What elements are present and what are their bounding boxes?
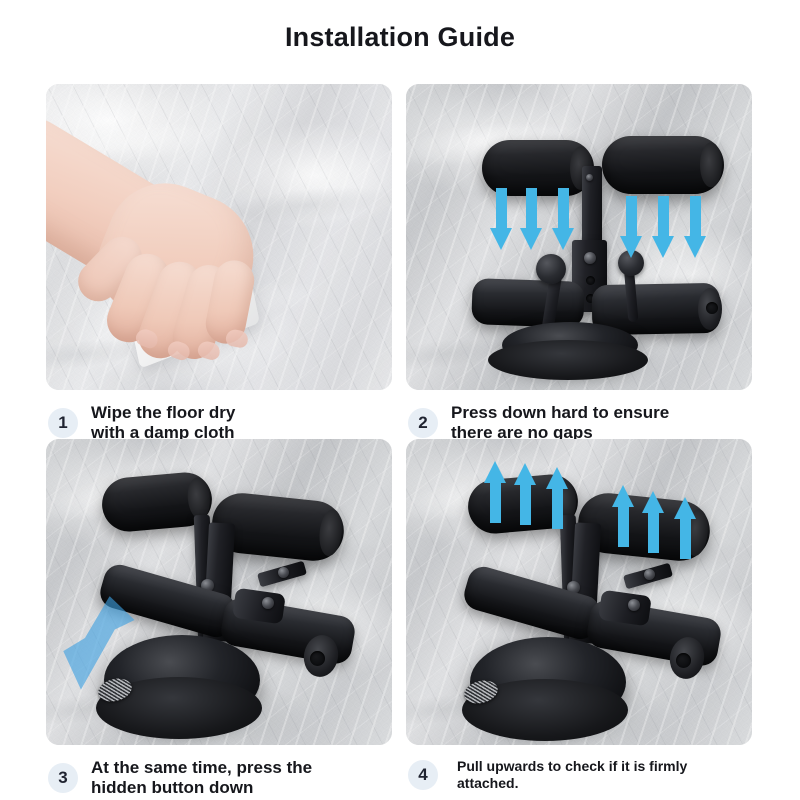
arrow-shaft bbox=[558, 188, 569, 228]
press-down-arrow bbox=[520, 188, 542, 250]
support-arm-bolt bbox=[644, 569, 655, 580]
steps-grid: 1 Wipe the floor dry with a damp cloth bbox=[46, 84, 754, 784]
roller-end-cap bbox=[186, 476, 212, 520]
arrow-head bbox=[514, 463, 536, 485]
arrow-head bbox=[490, 228, 512, 250]
pull-up-arrow bbox=[674, 497, 696, 559]
arrow-shaft bbox=[520, 485, 531, 525]
foot-bar-left bbox=[471, 278, 585, 328]
pull-up-arrow bbox=[514, 463, 536, 525]
step-3-caption: 3 At the same time, press the hidden but… bbox=[46, 758, 392, 798]
situp-bar-angled-view bbox=[406, 439, 752, 745]
press-down-arrow bbox=[490, 188, 512, 250]
arrow-shaft bbox=[680, 519, 691, 559]
height-adjust-hole bbox=[586, 276, 595, 285]
arrow-shaft bbox=[690, 196, 701, 236]
arrow-head bbox=[520, 228, 542, 250]
press-down-arrow bbox=[684, 196, 706, 258]
situp-bar-front-view bbox=[406, 84, 752, 390]
roller-bolt bbox=[586, 174, 593, 181]
lock-clamp-bolt-right bbox=[628, 599, 640, 611]
step-1-caption: 1 Wipe the floor dry with a damp cloth bbox=[46, 403, 392, 443]
arrow-shaft bbox=[490, 483, 501, 523]
roller-end-cap bbox=[317, 508, 344, 557]
arrow-shaft bbox=[496, 188, 507, 228]
foam-roller-right bbox=[602, 136, 724, 194]
situp-bar-angled-view bbox=[46, 439, 392, 745]
step-number-badge: 2 bbox=[408, 408, 438, 438]
step-card-1: 1 Wipe the floor dry with a damp cloth bbox=[46, 84, 392, 443]
support-arm-bolt bbox=[278, 567, 289, 578]
arrow-shaft bbox=[626, 196, 637, 236]
fingernail bbox=[225, 328, 250, 349]
pull-up-arrow bbox=[484, 461, 506, 523]
hand-with-cloth bbox=[46, 84, 392, 390]
step-1-photo bbox=[46, 84, 392, 390]
pull-up-arrow bbox=[612, 485, 634, 547]
step-2-photo bbox=[406, 84, 752, 390]
step-card-3: 3 At the same time, press the hidden but… bbox=[46, 439, 392, 798]
step-caption-text: Press down hard to ensure there are no g… bbox=[451, 403, 669, 443]
roller-end-cap bbox=[700, 142, 722, 187]
foot-bar-hole bbox=[676, 653, 691, 668]
arrow-shaft bbox=[552, 489, 563, 529]
arrow-head bbox=[484, 461, 506, 483]
arrow-head bbox=[620, 236, 642, 258]
step-number-badge: 3 bbox=[48, 763, 78, 793]
arrow-head bbox=[684, 236, 706, 258]
press-down-arrow bbox=[552, 188, 574, 250]
arrow-head bbox=[652, 236, 674, 258]
press-down-arrow bbox=[620, 196, 642, 258]
lock-clamp-bolt-right bbox=[262, 597, 274, 609]
press-hidden-button-arrow bbox=[60, 595, 132, 691]
arrow-head bbox=[674, 497, 696, 519]
step-caption-text: At the same time, press the hidden butto… bbox=[91, 758, 312, 798]
installation-guide-page: Installation Guide bbox=[0, 0, 800, 800]
step-2-caption: 2 Press down hard to ensure there are no… bbox=[406, 403, 752, 443]
arrow-head bbox=[612, 485, 634, 507]
step-number-badge: 4 bbox=[408, 760, 438, 790]
pull-up-arrow bbox=[642, 491, 664, 553]
press-down-arrow bbox=[652, 196, 674, 258]
post-bolt bbox=[584, 252, 596, 264]
step-number-badge: 1 bbox=[48, 408, 78, 438]
arrow-shaft bbox=[648, 513, 659, 553]
pull-up-arrow bbox=[546, 467, 568, 529]
step-caption-text: Pull upwards to check if it is firmly at… bbox=[457, 758, 752, 792]
arrow-head bbox=[546, 467, 568, 489]
arrow-shape bbox=[55, 591, 137, 694]
arrow-shaft bbox=[658, 196, 669, 236]
step-caption-text: Wipe the floor dry with a damp cloth bbox=[91, 403, 235, 443]
step-3-photo bbox=[46, 439, 392, 745]
arrow-head bbox=[552, 228, 574, 250]
page-title: Installation Guide bbox=[0, 22, 800, 53]
lock-knob-left bbox=[536, 254, 566, 284]
foot-bar-hole bbox=[310, 651, 325, 666]
arrow-shaft bbox=[618, 507, 629, 547]
foot-bar-hole bbox=[706, 302, 718, 314]
step-card-4: 4 Pull upwards to check if it is firmly … bbox=[406, 439, 752, 792]
step-4-caption: 4 Pull upwards to check if it is firmly … bbox=[406, 758, 752, 792]
arrow-shaft bbox=[526, 188, 537, 228]
step-4-photo bbox=[406, 439, 752, 745]
step-card-2: 2 Press down hard to ensure there are no… bbox=[406, 84, 752, 443]
suction-cup-rim bbox=[488, 340, 648, 380]
arrow-head bbox=[642, 491, 664, 513]
